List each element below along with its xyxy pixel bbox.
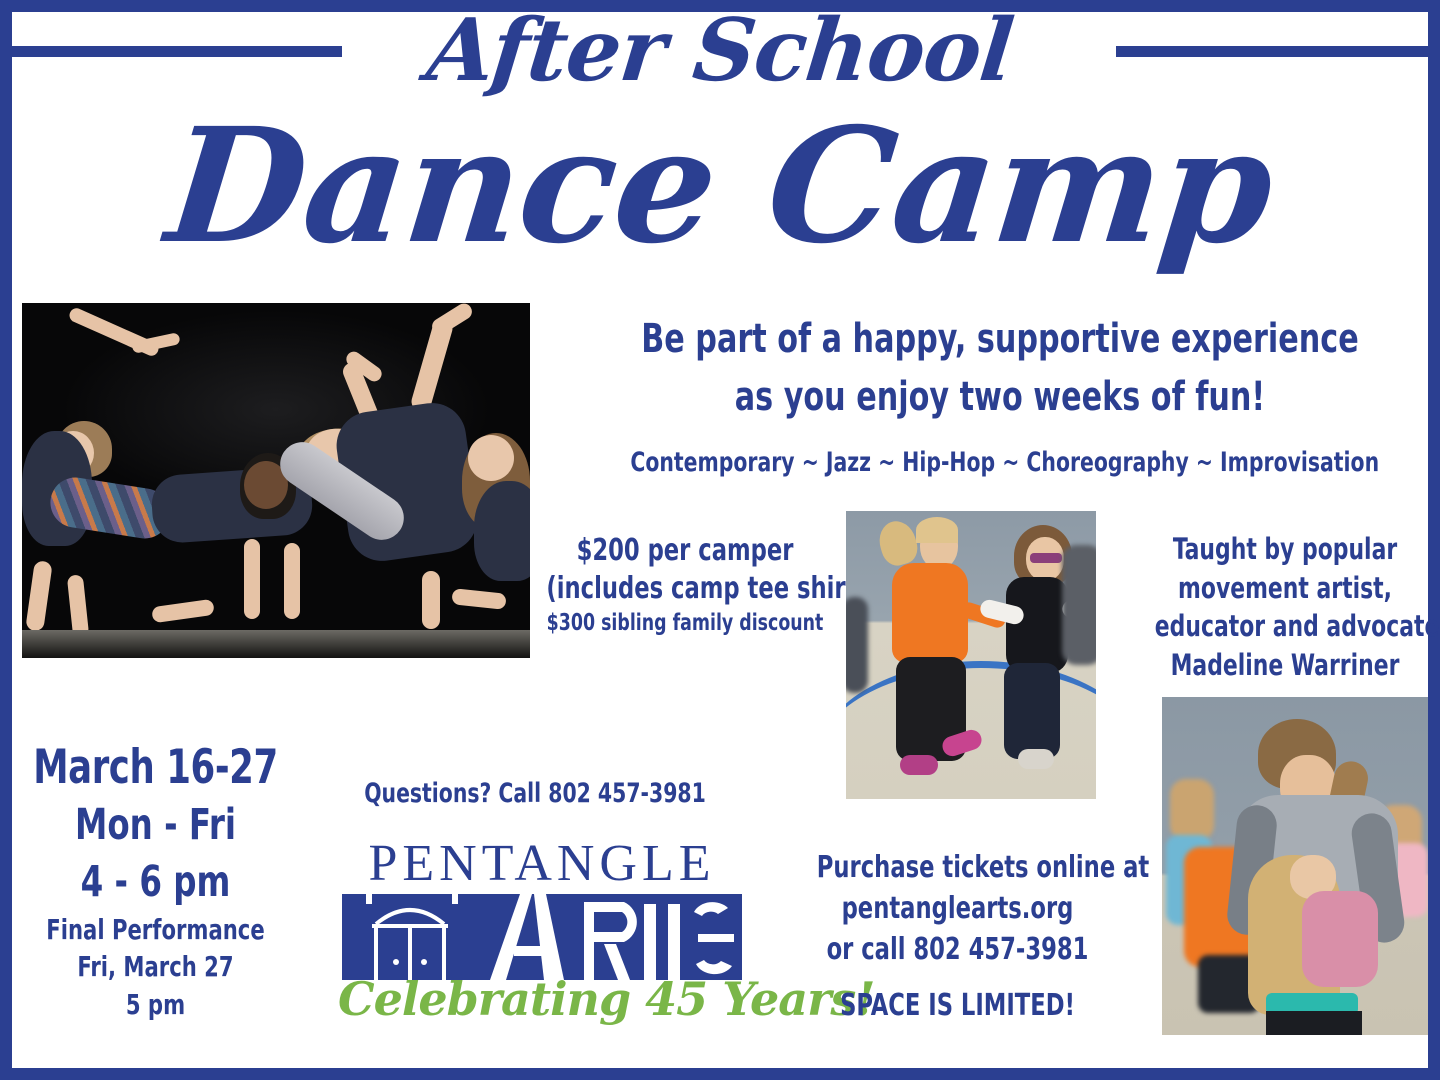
black-top — [1006, 577, 1068, 673]
page-title-line1: After School — [0, 8, 1440, 94]
poster-canvas: After School Dance Camp — [0, 0, 1440, 1080]
instructor-line-1: Taught by popular — [1155, 530, 1415, 569]
background-figure — [1062, 545, 1096, 665]
dancer-head — [468, 435, 514, 481]
questions-block: Questions? Call 802 457-3981 — [330, 778, 740, 809]
dancer-arm — [244, 539, 260, 619]
instructor-line-3: educator and advocate — [1155, 607, 1415, 646]
dancer-leg — [422, 571, 440, 629]
instructor-child-photo — [1162, 697, 1428, 1035]
schedule-dates: March 16-27 — [32, 738, 280, 798]
questions-phone[interactable]: Questions? Call 802 457-3981 — [363, 778, 707, 809]
eyeglasses — [1030, 553, 1062, 563]
genres-list: Contemporary ~ Jazz ~ Hip-Hop ~ Choreogr… — [560, 447, 1440, 478]
girl-hair — [916, 517, 958, 543]
child-skirt — [1266, 1011, 1362, 1035]
pentangle-arts-logo[interactable]: PENTANGLE — [338, 838, 746, 1038]
space-limited-notice: SPACE IS LIMITED! — [817, 988, 1098, 1023]
dancer-hand — [429, 303, 475, 337]
instructor-line-2: movement artist, — [1155, 569, 1415, 608]
logo-tagline: Celebrating 45 Years! — [338, 976, 746, 1022]
child-pink-top — [1302, 891, 1378, 987]
dancer-arm — [284, 543, 300, 619]
page-title-line2: Dance Camp — [0, 108, 1440, 266]
final-performance-time: 5 pm — [32, 986, 280, 1024]
background-figure — [1170, 779, 1214, 841]
price-per-camper: $200 per camper — [546, 532, 823, 570]
background-figure — [846, 597, 868, 693]
logo-wordmark: PENTANGLE — [338, 838, 746, 890]
dancer-hand — [151, 599, 215, 623]
dancer-hand — [451, 588, 506, 610]
orange-shirt — [892, 563, 968, 663]
lede-paragraph: Be part of a happy, supportive experienc… — [560, 310, 1440, 426]
final-performance-date: Fri, March 27 — [32, 948, 280, 986]
stage-dancers-photo — [22, 303, 530, 658]
dancer-leg — [67, 574, 89, 637]
schedule-block: March 16-27 Mon - Fri 4 - 6 pm Final Per… — [8, 738, 303, 1023]
schedule-time: 4 - 6 pm — [32, 854, 280, 911]
ponytail — [875, 517, 922, 569]
instructor-name: Madeline Warriner — [1155, 646, 1415, 685]
stage-floor — [22, 630, 530, 658]
price-includes: (includes camp tee shirt) — [546, 570, 823, 608]
lede-line-2: as you enjoy two weeks of fun! — [630, 368, 1369, 426]
purchase-line-1: Purchase tickets online at — [817, 848, 1098, 889]
logo-arts-block — [338, 894, 746, 980]
sneaker — [1018, 749, 1054, 769]
navy-leggings — [1004, 663, 1060, 759]
dancer-leg — [25, 560, 53, 632]
instructor-block: Taught by popular movement artist, educa… — [1130, 530, 1440, 684]
sneaker — [900, 755, 938, 775]
final-performance-label: Final Performance — [32, 911, 280, 949]
genres-line: Contemporary ~ Jazz ~ Hip-Hop ~ Choreogr… — [630, 447, 1369, 478]
purchase-phone[interactable]: or call 802 457-3981 — [817, 930, 1098, 971]
schedule-days: Mon - Fri — [32, 798, 280, 854]
pricing-block: $200 per camper (includes camp tee shirt… — [520, 532, 850, 639]
purchase-block: Purchase tickets online at pentanglearts… — [790, 848, 1125, 1023]
purchase-website[interactable]: pentanglearts.org — [817, 889, 1098, 930]
price-sibling-discount: $300 sibling family discount — [546, 609, 823, 639]
gym-two-girls-photo — [846, 511, 1096, 799]
poster-border-bottom — [0, 1068, 1440, 1080]
lede-line-1: Be part of a happy, supportive experienc… — [630, 310, 1369, 368]
